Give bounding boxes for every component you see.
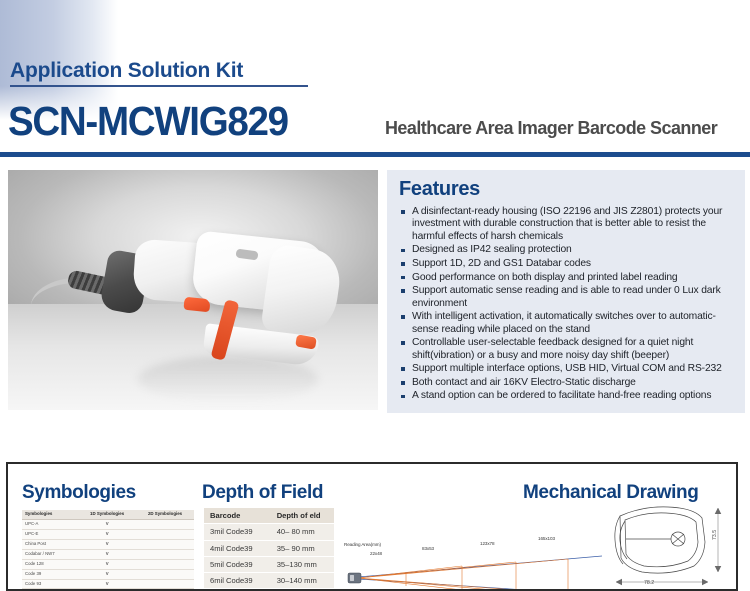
mech-height-dimension: 73.5 [712,530,718,540]
page-header: Application Solution Kit SCN-MCWIG829 He… [0,0,750,160]
reading-area-label-2: 83x53 [422,546,434,551]
dof-column-header: Barcode [204,508,271,524]
symbologies-column-header: 2D Symbologies [136,510,194,520]
symbologies-cell: Code 93 [22,579,78,589]
mechanical-drawing-figure: 78.2 73.5 [606,504,738,590]
mechanical-drawing-title: Mechanical Drawing [523,482,698,504]
symbologies-cell: V [78,579,136,589]
table-row: Codabar / NW7V [22,549,194,559]
dof-column-header: Depth of eld [271,508,334,524]
symbologies-cell: V [78,520,136,530]
features-panel: Features A disinfectant-ready housing (I… [387,170,745,413]
table-row: China PostV [22,539,194,549]
symbologies-cell: V [78,549,136,559]
reading-area-diagram: Reading Area(mm) 22x48 83x53 123x78 165x… [344,550,614,591]
table-row: 5mil Code3935–130 mm [204,556,334,572]
feature-item: Support automatic sense reading and is a… [399,285,735,310]
reading-area-label-1: 22x48 [370,551,382,556]
symbologies-cell: Code 128 [22,559,78,569]
dof-cell: 3mil Code39 [204,524,271,540]
depth-of-field-title: Depth of Field [202,482,323,504]
feature-item: With intelligent activation, it automati… [399,311,735,336]
dof-cell: 35– 90 mm [271,540,334,556]
product-model-title: SCN-MCWIG829 [8,98,288,145]
symbologies-cell: V [78,539,136,549]
feature-item: Controllable user-selectable feedback de… [399,337,735,362]
feature-item: A disinfectant-ready housing (ISO 22196 … [399,206,735,243]
feature-item: Support multiple interface options, USB … [399,363,735,375]
features-title: Features [399,178,735,201]
symbologies-header-row: Symbologies1D Symbologies2D Symbologies [22,510,194,520]
symbologies-cell [136,559,194,569]
symbologies-cell: V [78,530,136,540]
symbologies-cell [136,569,194,579]
table-row: Code 128V [22,559,194,569]
scanner-trigger [183,297,210,313]
depth-of-field-table: BarcodeDepth of eld 3mil Code3940– 80 mm… [204,508,334,591]
symbologies-cell [136,530,194,540]
dof-cell: 5mil Code39 [204,556,271,572]
table-row: 6mil Code3930–140 mm [204,572,334,588]
symbologies-cell: Code 39 [22,569,78,579]
dof-cell: 30–140 mm [271,572,334,588]
symbologies-column-header: 1D Symbologies [78,510,136,520]
symbologies-cell: UPC-A [22,520,78,530]
header-divider-rule [0,152,750,157]
symbologies-cell [136,539,194,549]
dof-header-row: BarcodeDepth of eld [204,508,334,524]
dof-cell: 6mil Code39 [204,572,271,588]
symbologies-cell [136,520,194,530]
symbologies-cell [136,549,194,559]
mech-width-dimension: 78.2 [644,580,654,586]
table-row: 4mil Code3935– 90 mm [204,540,334,556]
product-description-subtitle: Healthcare Area Imager Barcode Scanner [385,117,717,139]
symbologies-table: Symbologies1D Symbologies2D Symbologies … [22,510,194,591]
symbologies-cell: UPC-E [22,530,78,540]
feature-item: Designed as IP42 sealing protection [399,244,735,256]
feature-item: A stand option can be ordered to facilit… [399,390,735,402]
product-photo [8,170,378,410]
symbologies-body: UPC-AVUPC-EVChina PostVCodabar / NW7VCod… [22,520,194,591]
dof-body: 3mil Code3940– 80 mm4mil Code3935– 90 mm… [204,524,334,591]
table-row: Code 93V [22,579,194,589]
reading-area-svg [344,550,614,591]
symbologies-column-header: Symbologies [22,510,78,520]
application-solution-kit-label: Application Solution Kit [10,59,310,83]
feature-item: Good performance on both display and pri… [399,272,735,284]
table-row: Code 39V [22,569,194,579]
reading-area-label-4: 165x103 [538,536,555,541]
symbologies-title: Symbologies [22,482,136,504]
symbologies-cell: V [78,569,136,579]
symbologies-cell [136,579,194,589]
feature-item: Support 1D, 2D and GS1 Databar codes [399,258,735,270]
specifications-panel: Symbologies Depth of Field Mechanical Dr… [6,462,738,591]
symbologies-cell: Codabar / NW7 [22,549,78,559]
symbologies-cell: V [78,559,136,569]
reading-area-caption: Reading Area(mm) [344,542,381,547]
feature-item: Both contact and air 16KV Electro-Static… [399,377,735,389]
table-row: 3mil Code3940– 80 mm [204,524,334,540]
dof-cell: 4mil Code39 [204,540,271,556]
mechanical-drawing-svg [606,504,738,590]
reading-area-label-3: 123x78 [480,541,494,546]
kit-underline-rule [10,85,308,87]
features-list: A disinfectant-ready housing (ISO 22196 … [399,206,735,403]
table-row: UPC-AV [22,520,194,530]
dof-cell: 40– 80 mm [271,524,334,540]
table-row: UPC-EV [22,530,194,540]
dof-cell: 35–130 mm [271,556,334,572]
symbologies-cell: China Post [22,539,78,549]
